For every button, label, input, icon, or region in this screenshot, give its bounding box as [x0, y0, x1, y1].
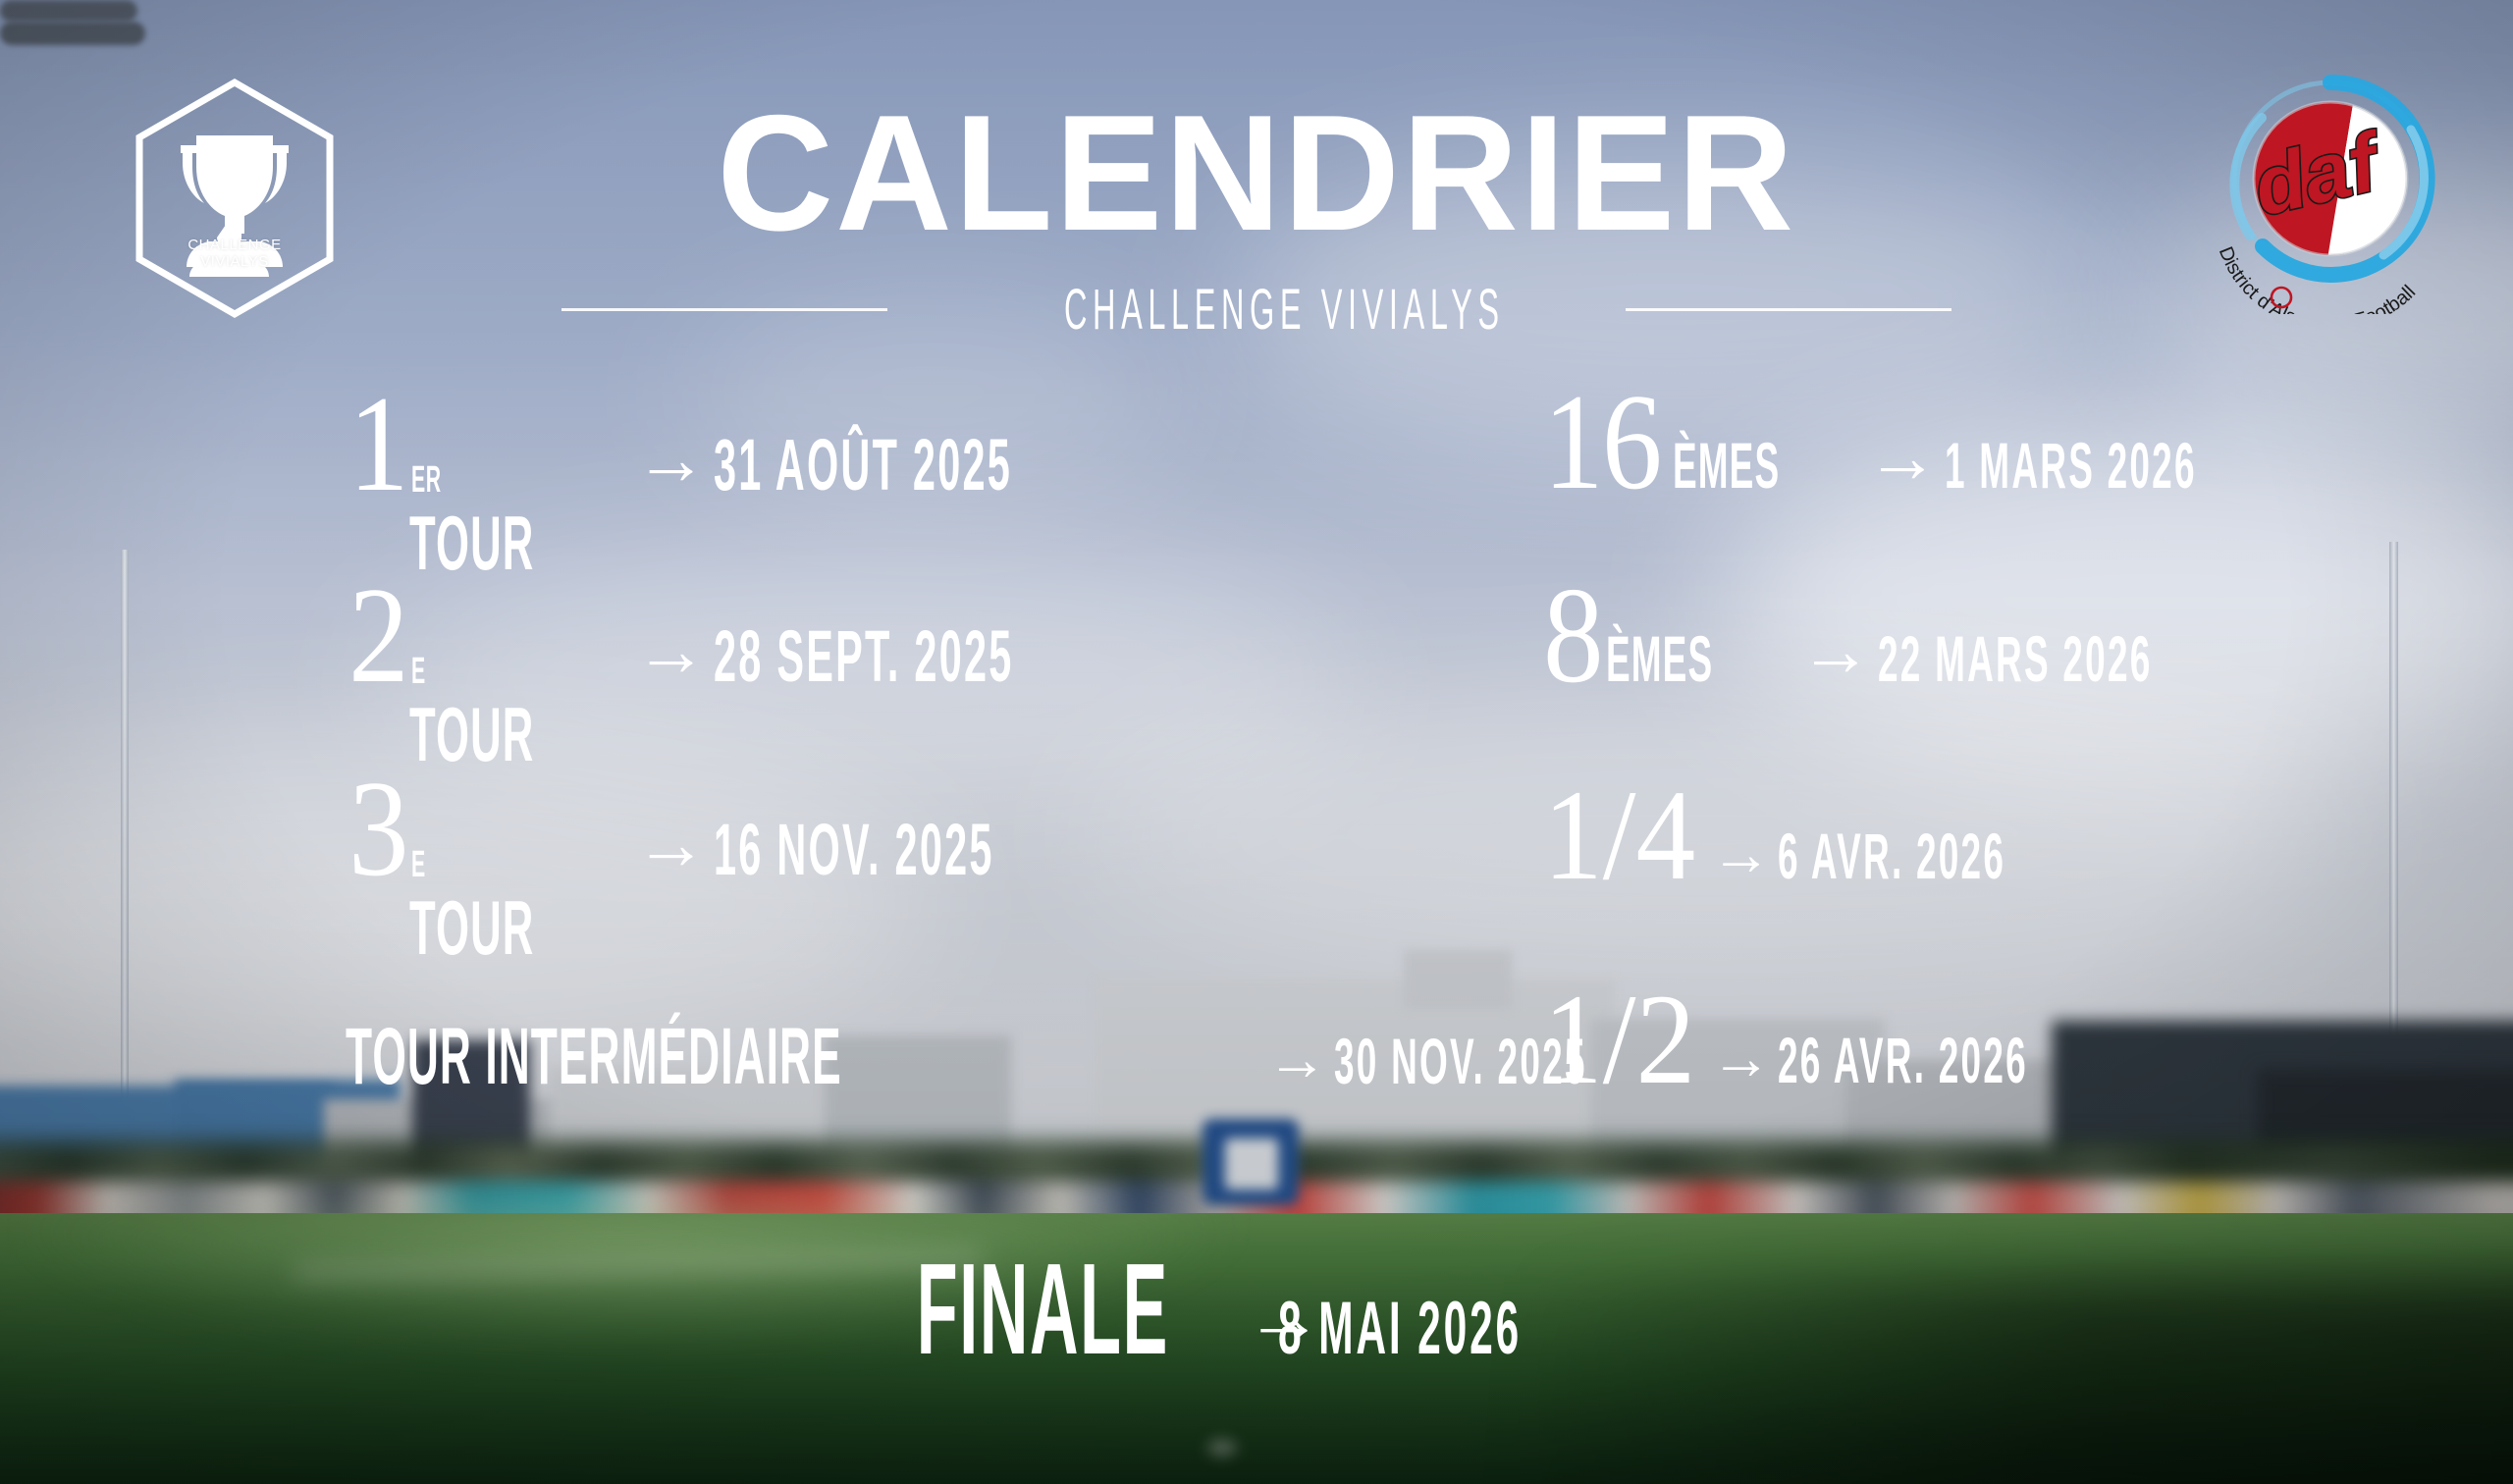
round-date: 22 MARS 2026 [1878, 621, 2153, 696]
round-item-1: 1 ER TOUR → 31 AOÛT 2025 [348, 383, 1247, 577]
round-ordinal: ÈMES [1606, 621, 1713, 696]
round-ordinal: ÈMES [1673, 428, 1780, 503]
round-date: 26 AVR. 2026 [1778, 1023, 2028, 1097]
round-item-2: 2 E TOUR → 28 SEPT. 2025 [348, 574, 1249, 768]
round-ordinal: E [411, 653, 426, 690]
final-item: FINALE → 8 MAI 2026 [0, 1235, 2513, 1383]
round-date: 6 AVR. 2026 [1778, 819, 2005, 893]
arrow-icon: → [635, 614, 708, 687]
round-label: TOUR INTERMÉDIAIRE [346, 1011, 842, 1103]
arrow-icon: → [635, 423, 708, 496]
round-number: 16 [1543, 381, 1661, 504]
round-word: TOUR [409, 508, 534, 579]
round-ordinal-stack: E TOUR [409, 846, 633, 964]
arrow-icon: → [1866, 421, 1939, 494]
round-item-16emes: 16 ÈMES → 1 MARS 2026 [1543, 381, 2395, 504]
arrow-icon: → [1711, 824, 1772, 885]
round-date: 28 SEPT. 2025 [714, 614, 1014, 698]
round-word: TOUR [409, 893, 534, 964]
round-item-quarter-final: 1/4 → 6 AVR. 2026 [1543, 777, 2184, 894]
round-number: 2 [348, 574, 407, 698]
round-word: TOUR [409, 700, 534, 770]
round-ordinal-stack: ER TOUR [409, 461, 633, 579]
round-number: 1 [348, 383, 407, 506]
calendar-poster: CHALLENGE VIVIALYS [0, 0, 2513, 1484]
arrow-icon: → [635, 808, 708, 880]
poster-content: CHALLENGE VIVIALYS [0, 0, 2513, 1484]
arrow-icon: → [1799, 614, 1872, 687]
round-number: 8 [1543, 574, 1602, 698]
round-item-8emes: 8 ÈMES → 22 MARS 2026 [1543, 574, 2368, 698]
round-ordinal: ER [411, 461, 442, 499]
round-ordinal: E [411, 846, 426, 883]
round-number: 1/2 [1543, 981, 1695, 1098]
round-date: 31 AOÛT 2025 [714, 423, 1012, 506]
arrow-icon: → [1267, 1030, 1328, 1090]
round-date: 16 NOV. 2025 [714, 808, 994, 891]
round-ordinal-stack: E TOUR [409, 653, 633, 770]
round-item-semi-final: 1/2 → 26 AVR. 2026 [1543, 981, 2224, 1098]
final-label: FINALE [917, 1235, 1169, 1383]
round-number: 1/4 [1543, 777, 1695, 894]
final-date: 8 MAI 2026 [1278, 1286, 1522, 1371]
arrow-icon: → [1711, 1029, 1772, 1089]
round-number: 3 [348, 768, 407, 891]
round-item-3: 3 E TOUR → 16 NOV. 2025 [348, 768, 1214, 962]
round-date: 1 MARS 2026 [1945, 428, 2197, 503]
